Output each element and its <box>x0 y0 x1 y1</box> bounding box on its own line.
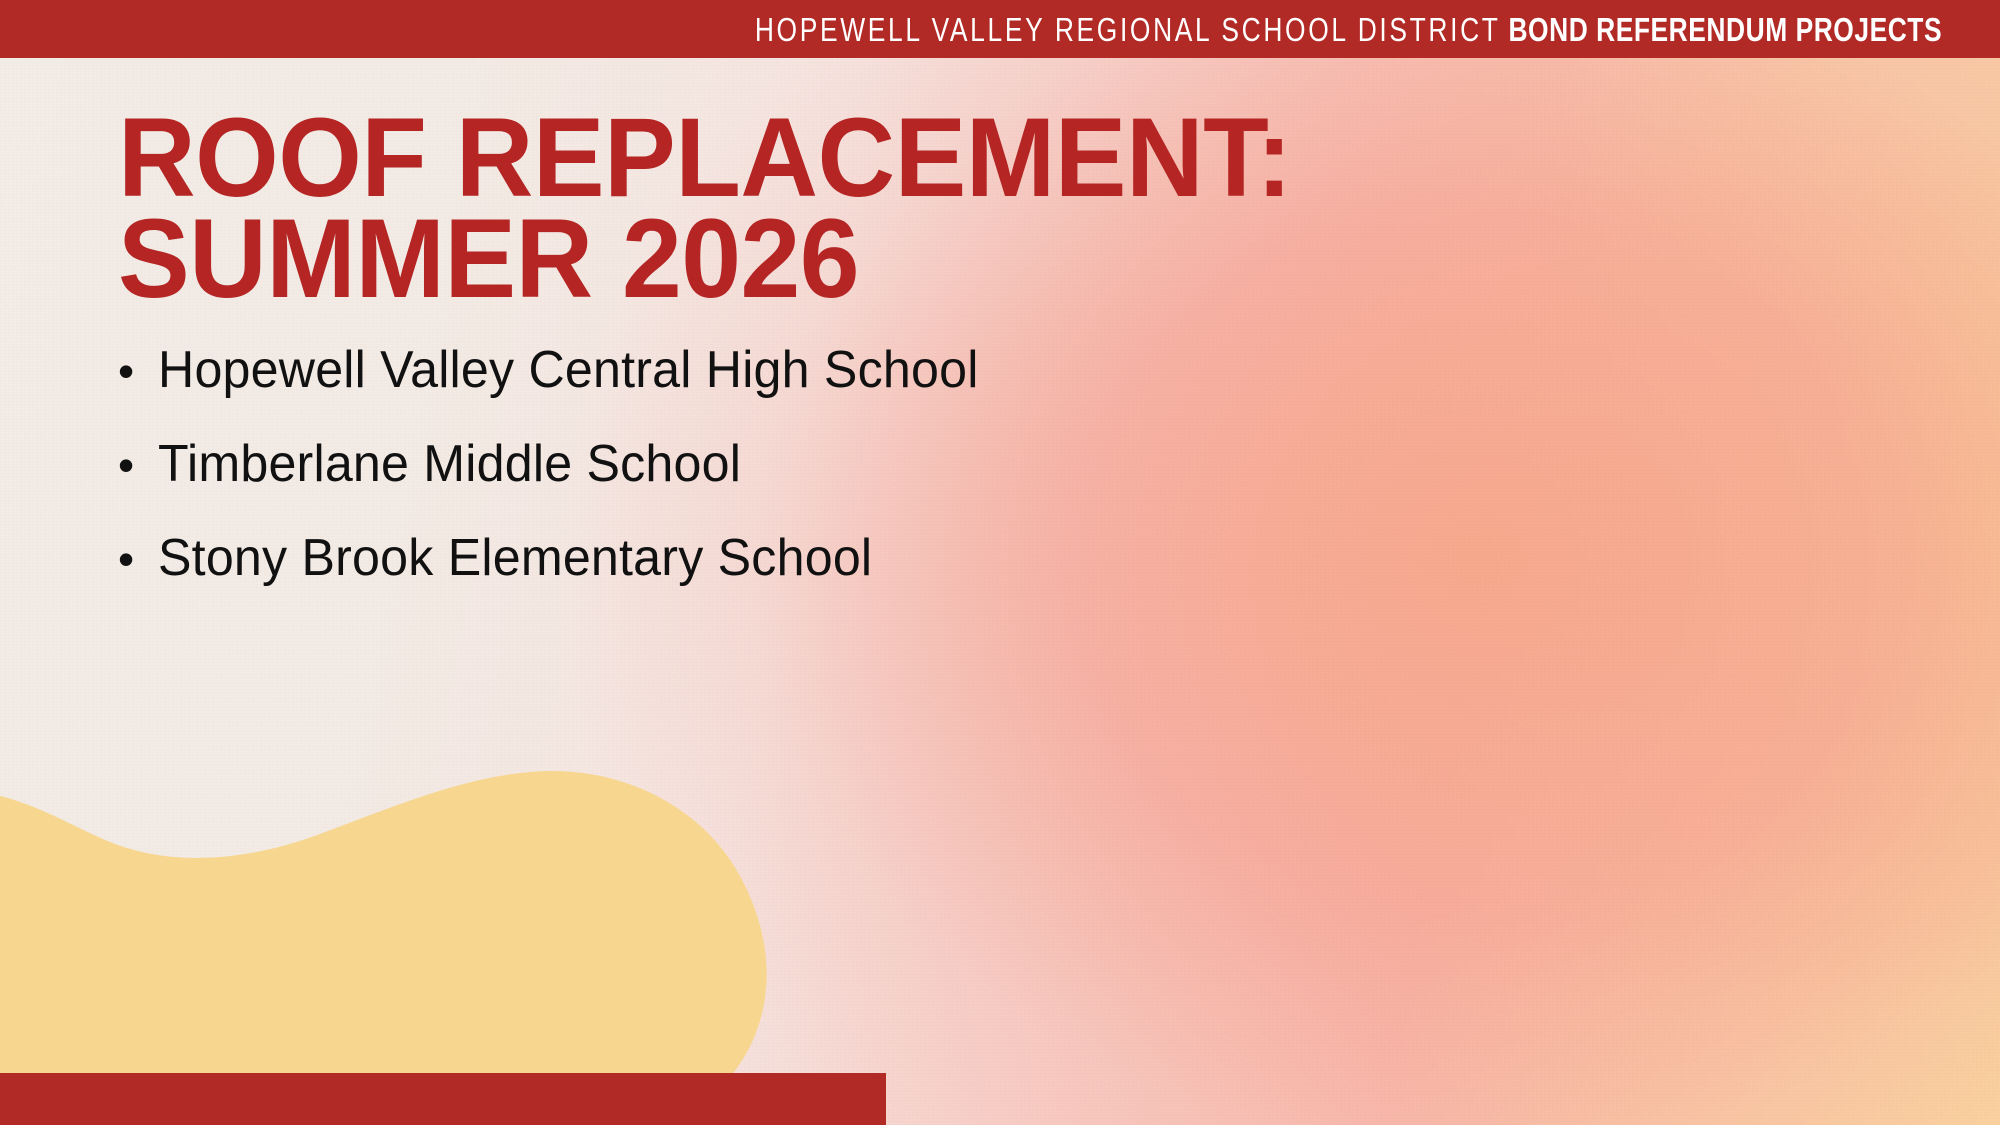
banner-text-group: HOPEWELL VALLEY REGIONAL SCHOOL DISTRICT… <box>755 13 1942 46</box>
banner-district-name: HOPEWELL VALLEY REGIONAL SCHOOL DISTRICT <box>755 11 1501 48</box>
page-title: ROOF REPLACEMENT: SUMMER 2026 <box>118 108 1616 310</box>
bullet-dot-icon: • <box>118 442 158 488</box>
bullet-dot-icon: • <box>118 348 158 394</box>
bottom-red-bar <box>0 1073 886 1125</box>
project-school-list: • Hopewell Valley Central High School • … <box>118 344 1678 584</box>
list-item-label: Timberlane Middle School <box>158 438 741 490</box>
list-item: • Timberlane Middle School <box>118 438 1678 490</box>
top-banner: HOPEWELL VALLEY REGIONAL SCHOOL DISTRICT… <box>0 0 2000 58</box>
banner-section-label: BOND REFERENDUM PROJECTS <box>1508 11 1942 48</box>
bullet-dot-icon: • <box>118 536 158 582</box>
list-item-label: Stony Brook Elementary School <box>158 532 872 584</box>
slide-content: ROOF REPLACEMENT: SUMMER 2026 • Hopewell… <box>118 108 1678 626</box>
list-item: • Hopewell Valley Central High School <box>118 344 1678 396</box>
page-title-line-2: SUMMER 2026 <box>118 209 1616 310</box>
slide-canvas: HOPEWELL VALLEY REGIONAL SCHOOL DISTRICT… <box>0 0 2000 1125</box>
page-title-line-1: ROOF REPLACEMENT: <box>118 108 1616 209</box>
list-item: • Stony Brook Elementary School <box>118 532 1678 584</box>
list-item-label: Hopewell Valley Central High School <box>158 344 979 396</box>
